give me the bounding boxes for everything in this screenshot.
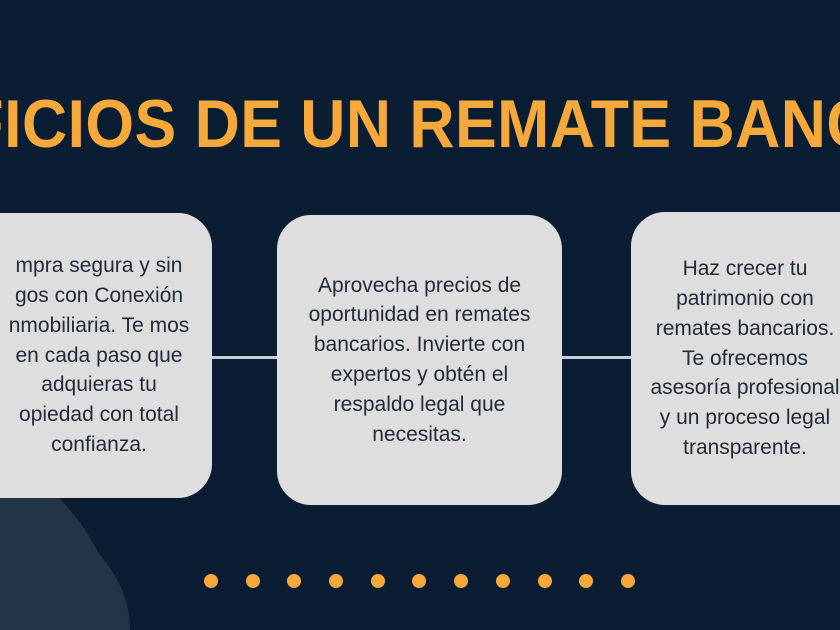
slide-canvas: EFICIOS DE UN REMATE BANCA mpra segura y… — [0, 0, 840, 630]
page-title-text: EFICIOS DE UN REMATE BANCA — [0, 90, 840, 158]
decorative-dot — [287, 574, 301, 588]
decorative-dot — [412, 574, 426, 588]
decorative-dot — [454, 574, 468, 588]
decorative-dot-row — [204, 574, 635, 588]
benefit-card-1-text: mpra segura y sin gos con Conexión nmobi… — [0, 251, 212, 460]
card-connector-line-2 — [562, 356, 632, 359]
benefit-card-3-text: Haz crecer tu patrimonio con remates ban… — [631, 254, 840, 463]
decorative-dot — [621, 574, 635, 588]
decorative-dot — [371, 574, 385, 588]
benefit-card-3: Haz crecer tu patrimonio con remates ban… — [631, 212, 840, 505]
decorative-dot — [204, 574, 218, 588]
decorative-dot — [538, 574, 552, 588]
benefit-card-1: mpra segura y sin gos con Conexión nmobi… — [0, 213, 212, 498]
decorative-dot — [496, 574, 510, 588]
benefit-card-2: Aprovecha precios de oportunidad en rema… — [277, 215, 562, 505]
decorative-dot — [579, 574, 593, 588]
decorative-dot — [246, 574, 260, 588]
benefit-card-2-text: Aprovecha precios de oportunidad en rema… — [277, 271, 562, 450]
page-title: EFICIOS DE UN REMATE BANCA — [0, 86, 840, 162]
card-connector-line-1 — [212, 356, 278, 359]
decorative-dot — [329, 574, 343, 588]
